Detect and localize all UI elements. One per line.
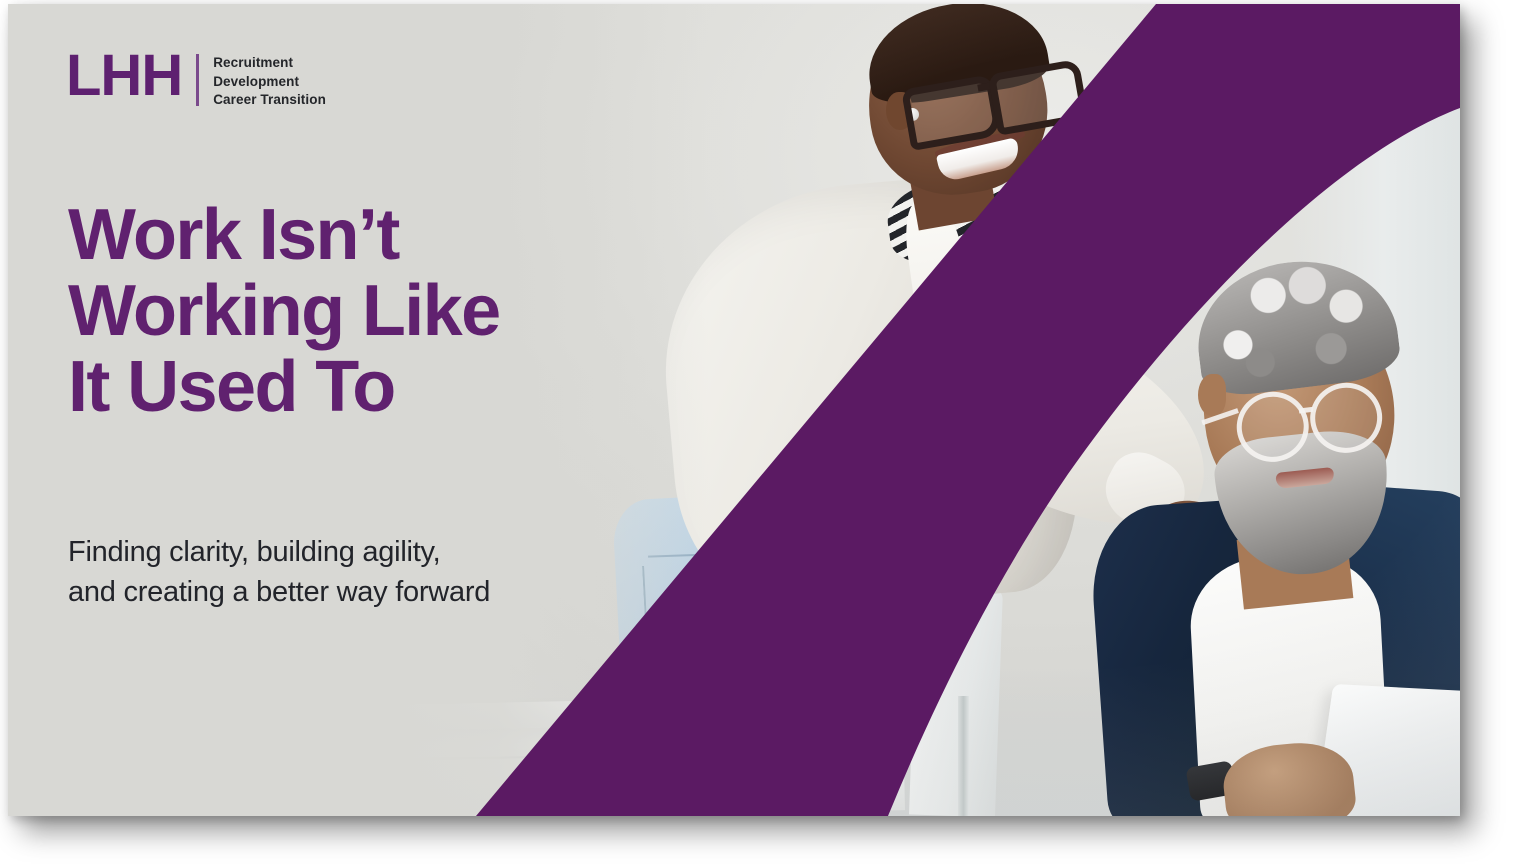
office-chair-post (958, 696, 969, 816)
subtitle-line-1: Finding clarity, building agility, (68, 532, 668, 572)
logo-divider-bar (196, 54, 199, 106)
lhh-logo[interactable]: LHH Recruitment Development Career Trans… (66, 52, 326, 108)
lhh-wordmark: LHH (66, 52, 182, 100)
man-ear (1198, 374, 1226, 416)
logo-line-recruitment: Recruitment (213, 55, 326, 71)
slide-subtitle: Finding clarity, building agility, and c… (68, 532, 668, 612)
page-canvas: LHH Recruitment Development Career Trans… (0, 0, 1536, 864)
headline-line-1: Work Isn’t (68, 198, 668, 274)
office-chair-knob (915, 598, 937, 620)
headline-line-3: It Used To (68, 350, 668, 426)
subtitle-line-2: and creating a better way forward (68, 572, 668, 612)
slide-headline: Work Isn’t Working Like It Used To (68, 198, 668, 426)
logo-line-career-transition: Career Transition (213, 92, 326, 108)
logo-line-development: Development (213, 74, 326, 90)
presentation-slide: LHH Recruitment Development Career Trans… (8, 4, 1460, 816)
headline-line-2: Working Like (68, 274, 668, 350)
logo-tagline-lines: Recruitment Development Career Transitio… (213, 55, 326, 108)
